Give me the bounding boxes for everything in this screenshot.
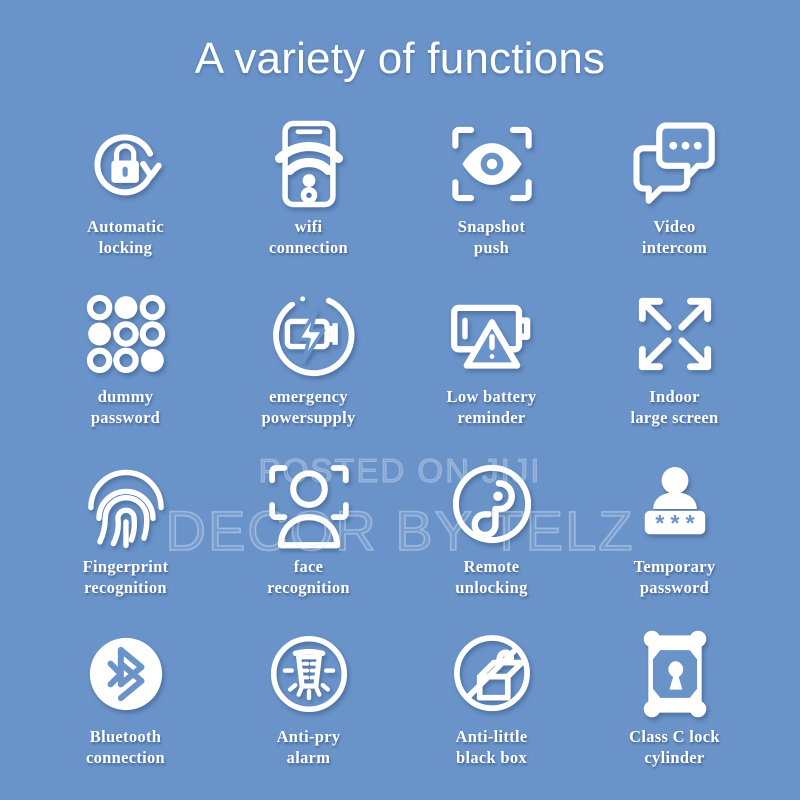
feature-item-anti-pry-alarm[interactable]: Anti-pry alarm	[217, 628, 400, 798]
feature-item-emergency-powersupply[interactable]: emergency powersupply	[217, 288, 400, 458]
feature-item-dummy-password[interactable]: dummy password	[34, 288, 217, 458]
feature-label: Video intercom	[642, 216, 707, 258]
phone-wifi-icon	[263, 118, 355, 210]
feature-item-wifi-connection[interactable]: wifi connection	[217, 118, 400, 288]
feature-label: emergency powersupply	[261, 386, 355, 428]
feature-item-snapshot-push[interactable]: Snapshot push	[400, 118, 583, 288]
svg-text:*: *	[670, 510, 680, 536]
feature-label: Low battery reminder	[447, 386, 537, 428]
bluetooth-icon	[80, 628, 172, 720]
fingerprint-icon	[80, 458, 172, 550]
dot-grid-icon	[80, 288, 172, 380]
user-password-icon: ***	[629, 458, 721, 550]
auto-lock-icon	[80, 118, 172, 210]
feature-label: dummy password	[91, 386, 160, 428]
feature-label: Anti-little black box	[455, 726, 527, 768]
expand-arrows-icon	[629, 288, 721, 380]
feature-label: Automatic locking	[87, 216, 164, 258]
svg-text:*: *	[655, 510, 665, 536]
feature-item-class-c-lock-cylinder[interactable]: Class C lock cylinder	[583, 628, 766, 798]
face-scan-icon	[263, 458, 355, 550]
feature-item-bluetooth-connection[interactable]: Bluetooth connection	[34, 628, 217, 798]
feature-item-face-recognition[interactable]: face recognition	[217, 458, 400, 628]
feature-grid: Automatic locking wifi connection	[34, 118, 766, 798]
feature-label: wifi connection	[269, 216, 348, 258]
feature-label: Indoor large screen	[630, 386, 718, 428]
feature-label: Fingerprint recognition	[83, 556, 169, 598]
feature-label: Bluetooth connection	[86, 726, 165, 768]
feature-item-anti-little-black-box[interactable]: Anti-little black box	[400, 628, 583, 798]
speech-bubbles-icon	[629, 118, 721, 210]
anti-pry-alarm-icon	[263, 628, 355, 720]
eye-viewfinder-icon	[446, 118, 538, 210]
feature-label: Remote unlocking	[455, 556, 527, 598]
feature-item-temporary-password[interactable]: *** Temporary password	[583, 458, 766, 628]
page-title: A variety of functions	[0, 34, 800, 84]
remote-unlock-icon	[446, 458, 538, 550]
svg-text:*: *	[685, 510, 695, 536]
feature-label: Snapshot push	[458, 216, 526, 258]
feature-item-video-intercom[interactable]: Video intercom	[583, 118, 766, 288]
feature-item-automatic-locking[interactable]: Automatic locking	[34, 118, 217, 288]
feature-label: face recognition	[267, 556, 350, 598]
battery-bolt-icon	[263, 288, 355, 380]
feature-item-fingerprint-recognition[interactable]: Fingerprint recognition	[34, 458, 217, 628]
feature-label: Temporary password	[634, 556, 716, 598]
lock-cylinder-icon	[629, 628, 721, 720]
poster-canvas: A variety of functions Automatic locking	[0, 0, 800, 800]
low-battery-warning-icon	[446, 288, 538, 380]
feature-label: Class C lock cylinder	[629, 726, 720, 768]
feature-item-remote-unlocking[interactable]: Remote unlocking	[400, 458, 583, 628]
no-black-box-icon	[446, 628, 538, 720]
feature-item-indoor-large-screen[interactable]: Indoor large screen	[583, 288, 766, 458]
feature-item-low-battery-reminder[interactable]: Low battery reminder	[400, 288, 583, 458]
feature-label: Anti-pry alarm	[277, 726, 341, 768]
